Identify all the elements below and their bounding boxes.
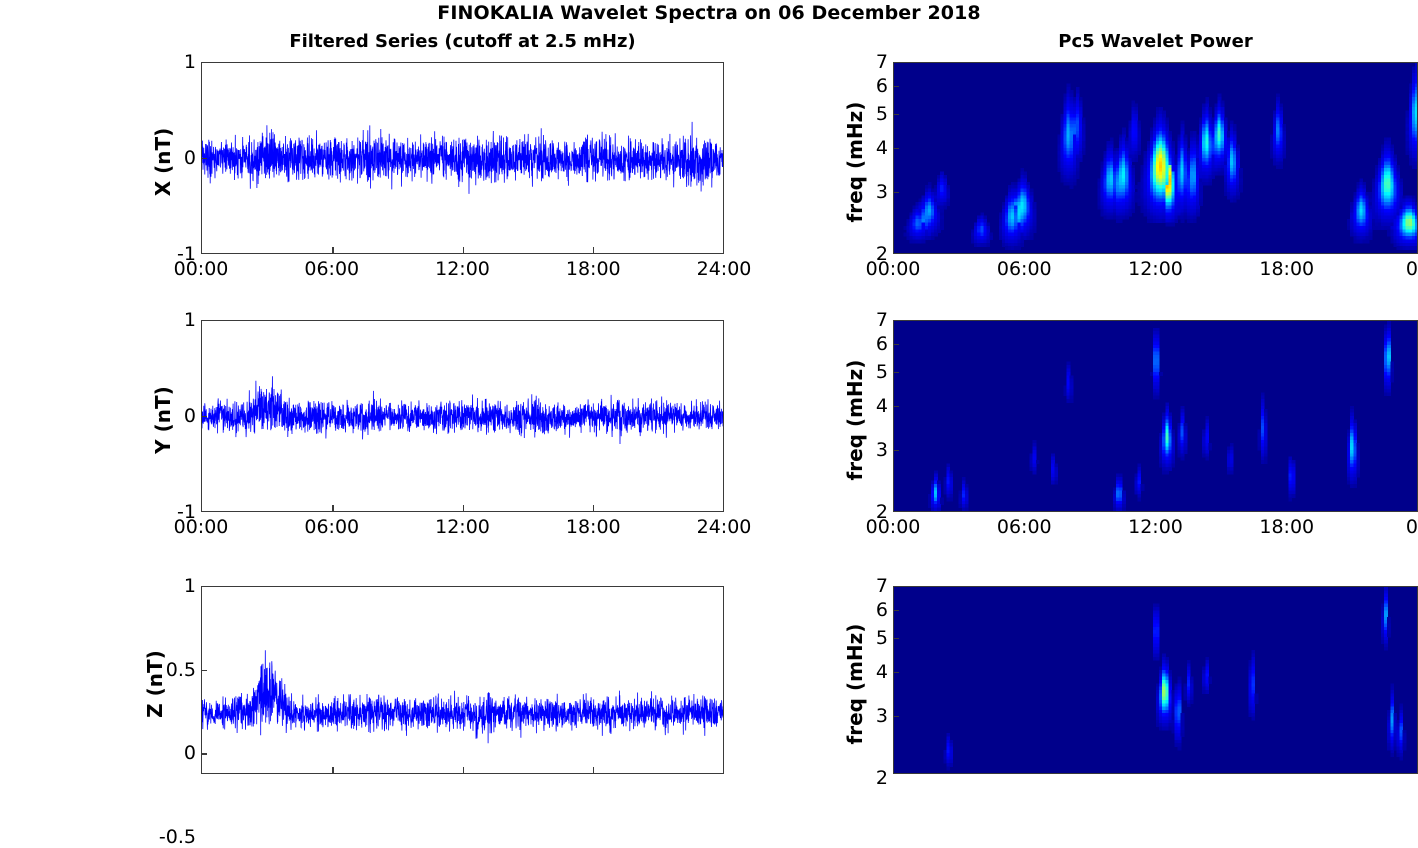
x-ticks-y-wavelet: 00:0006:0012:0018:0000: [893, 516, 1418, 540]
y-tick-label: 0: [184, 147, 196, 169]
y-tick-label: 5: [876, 627, 888, 649]
x-tick-label: 24:00: [697, 516, 752, 538]
x-tick-mark: [463, 767, 464, 773]
x-tick-label: 12:00: [1128, 516, 1183, 538]
x-tick-label: 00:00: [174, 258, 229, 280]
y-tick-label: 5: [876, 103, 888, 125]
x-tick-label: 06:00: [304, 516, 359, 538]
y-tick-label: 2: [876, 767, 888, 789]
x-tick-label: 18:00: [1259, 516, 1314, 538]
x-tick-label: 06:00: [304, 258, 359, 280]
x-tick-mark: [593, 767, 594, 773]
figure-root: FINOKALIA Wavelet Spectra on 06 December…: [0, 0, 1418, 788]
x-tick-mark: [463, 247, 464, 253]
y-tick-mark: [893, 86, 899, 87]
x-tick-mark: [593, 505, 594, 511]
y-ticks-y-panel: 10-1: [150, 320, 196, 512]
x-ticks-x-wavelet: 00:0006:0012:0018:0000: [893, 258, 1418, 282]
left-column-title: Filtered Series (cutoff at 2.5 mHz): [201, 31, 724, 52]
panel-x-filtered-series: [201, 62, 724, 254]
x-tick-label: 12:00: [435, 516, 490, 538]
x-tick-label: 12:00: [435, 258, 490, 280]
y-tick-mark: [893, 638, 899, 639]
x-tick-label: 00:00: [866, 516, 921, 538]
y-tick-label: 0.5: [166, 659, 196, 681]
x-tick-label: 00: [1406, 516, 1418, 538]
x-tick-label: 18:00: [566, 516, 621, 538]
y-tick-label: 3: [876, 439, 888, 461]
series-trace: [202, 650, 723, 743]
y-tick-mark: [893, 716, 899, 717]
y-tick-label: 0: [184, 742, 196, 764]
y-tick-label: 1: [184, 51, 196, 73]
panel-y-filtered-series: [201, 320, 724, 512]
x-ticks-x-panel: 00:0006:0012:0018:0024:00: [201, 258, 724, 282]
x-tick-label: 18:00: [1259, 258, 1314, 280]
x-tick-label: 06:00: [997, 516, 1052, 538]
y-tick-label: 4: [876, 661, 888, 683]
y-tick-label: 7: [876, 51, 888, 73]
y-tick-label: 1: [184, 575, 196, 597]
x-tick-mark: [463, 505, 464, 511]
y-tick-mark: [201, 670, 207, 671]
y-tick-mark: [893, 344, 899, 345]
y-tick-label: 7: [876, 575, 888, 597]
x-series-plot: [202, 63, 723, 253]
y-ticks-y-wavelet: 765432: [842, 320, 888, 512]
y-tick-mark: [201, 416, 207, 417]
x-tick-label: 00:00: [174, 516, 229, 538]
series-trace: [202, 122, 723, 194]
y-ticks-x-panel: 10-1: [150, 62, 196, 254]
y-tick-label: 4: [876, 137, 888, 159]
x-tick-mark: [332, 767, 333, 773]
x-tick-label: 12:00: [1128, 258, 1183, 280]
y-series-plot: [202, 321, 723, 511]
z-series-plot: [202, 587, 723, 773]
y-tick-label: 6: [876, 333, 888, 355]
x-tick-label: 06:00: [997, 258, 1052, 280]
y-tick-label: 0: [184, 405, 196, 427]
right-column-title: Pc5 Wavelet Power: [893, 31, 1418, 52]
page-title: FINOKALIA Wavelet Spectra on 06 December…: [0, 2, 1418, 24]
y-tick-label: -0.5: [159, 826, 196, 848]
y-wavelet-heatmap: [894, 321, 1418, 511]
y-tick-label: 3: [876, 181, 888, 203]
y-tick-mark: [893, 192, 899, 193]
y-tick-label: 4: [876, 395, 888, 417]
y-tick-mark: [893, 372, 899, 373]
y-tick-mark: [201, 753, 207, 754]
y-tick-label: 7: [876, 309, 888, 331]
y-ticks-x-wavelet: 765432: [842, 62, 888, 254]
y-ticks-z-panel: 10.50-0.5: [150, 586, 196, 774]
y-tick-mark: [893, 406, 899, 407]
panel-z-wavelet-power: [893, 586, 1418, 774]
y-tick-mark: [893, 672, 899, 673]
y-tick-label: 6: [876, 599, 888, 621]
y-tick-mark: [893, 450, 899, 451]
y-tick-mark: [893, 114, 899, 115]
z-wavelet-heatmap: [894, 587, 1418, 773]
x-tick-mark: [332, 505, 333, 511]
panel-x-wavelet-power: [893, 62, 1418, 254]
y-tick-mark: [201, 158, 207, 159]
y-tick-label: 5: [876, 361, 888, 383]
y-ticks-z-wavelet: 765432: [842, 586, 888, 774]
x-tick-label: 18:00: [566, 258, 621, 280]
x-wavelet-heatmap: [894, 63, 1418, 253]
x-ticks-y-panel: 00:0006:0012:0018:0024:00: [201, 516, 724, 540]
x-tick-mark: [593, 247, 594, 253]
panel-y-wavelet-power: [893, 320, 1418, 512]
y-tick-mark: [893, 148, 899, 149]
y-tick-label: 1: [184, 309, 196, 331]
x-tick-label: 00:00: [866, 258, 921, 280]
y-tick-label: 6: [876, 75, 888, 97]
y-tick-mark: [893, 610, 899, 611]
x-tick-mark: [332, 247, 333, 253]
x-tick-label: 24:00: [697, 258, 752, 280]
series-trace: [202, 376, 723, 444]
y-tick-label: 3: [876, 705, 888, 727]
panel-z-filtered-series: [201, 586, 724, 774]
x-tick-label: 00: [1406, 258, 1418, 280]
